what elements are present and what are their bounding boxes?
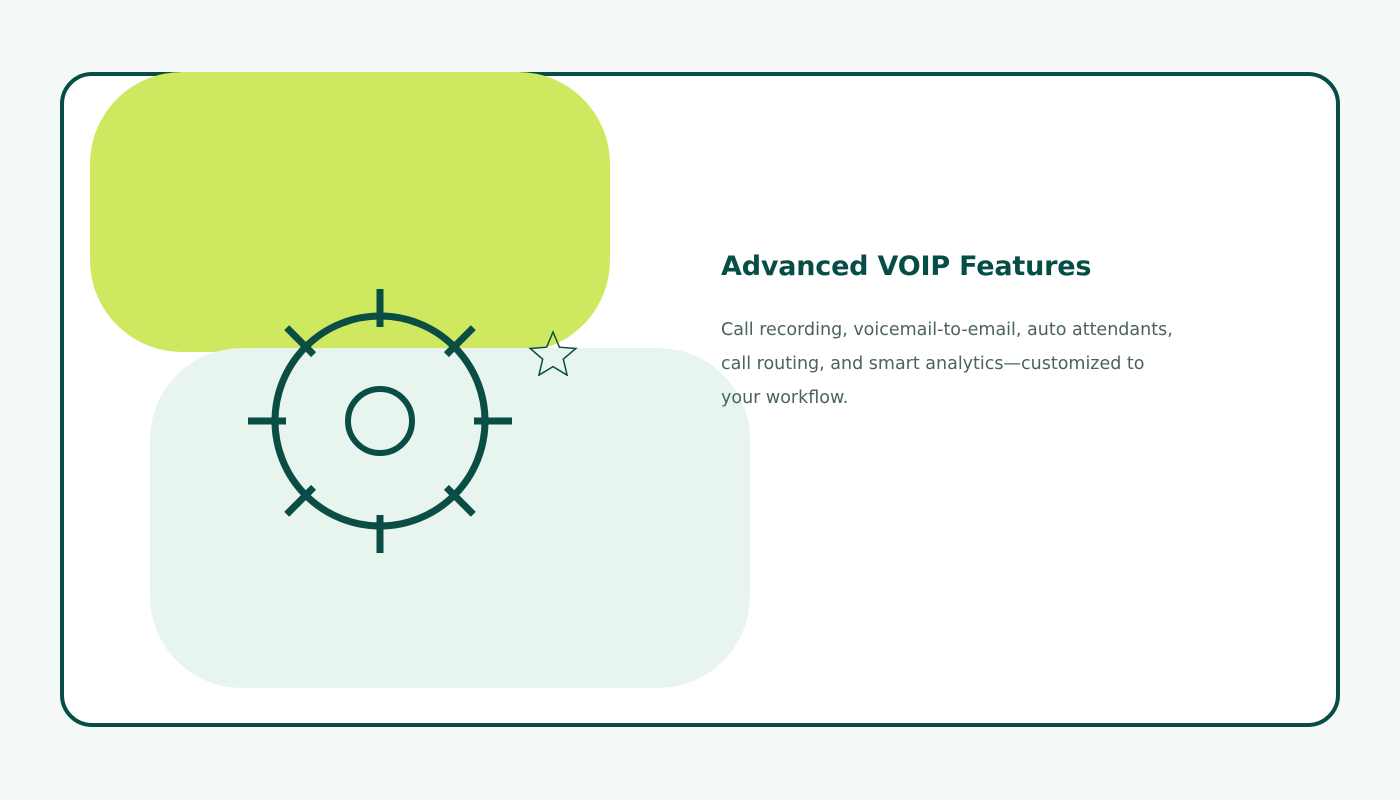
feature-panel-stage: Advanced VOIP Features Call recording, v… [0, 0, 1400, 800]
star-outline-icon [528, 330, 578, 376]
feature-text-column: Advanced VOIP Features Call recording, v… [721, 248, 1191, 415]
feature-title: Advanced VOIP Features [721, 248, 1191, 286]
crosshair-wheel-icon [240, 281, 520, 561]
feature-description: Call recording, voicemail-to-email, auto… [721, 286, 1173, 415]
